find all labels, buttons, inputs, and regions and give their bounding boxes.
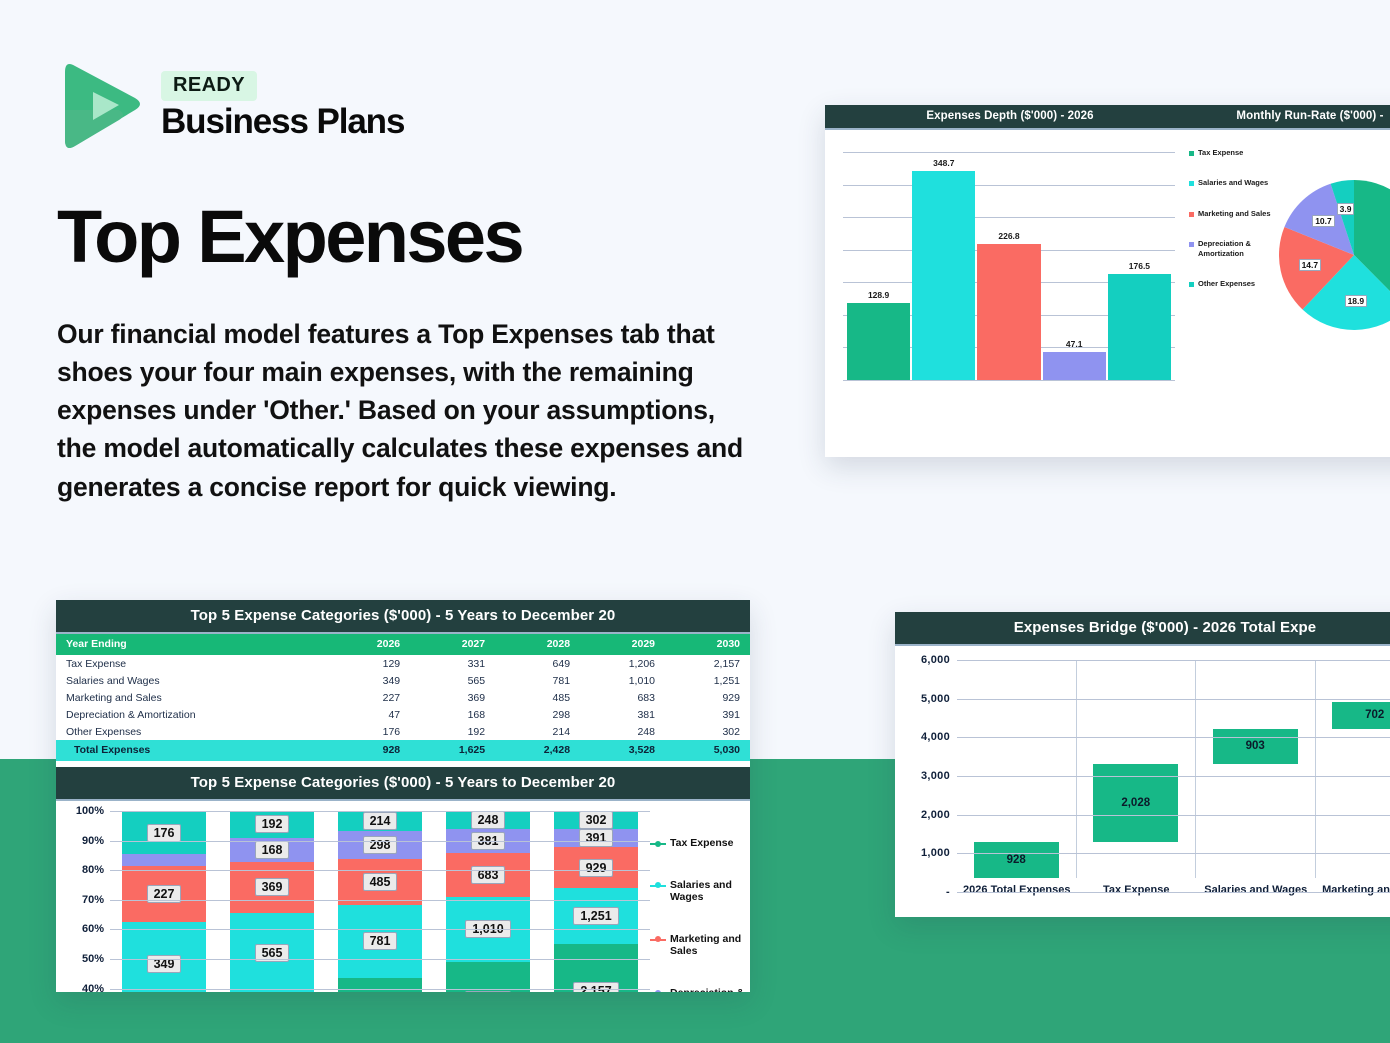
x-axis-label: 2026 Total Expenses <box>957 878 1077 904</box>
legend-swatch <box>1189 282 1194 287</box>
table-cell: 929 <box>665 689 750 706</box>
waterfall-value-label: 928 <box>1007 854 1026 866</box>
legend-label: Salaries and Wages <box>1198 178 1268 187</box>
top5-expense-table: Year Ending20262027202820292030 Tax Expe… <box>56 634 750 761</box>
segment-value-label: 2,157 <box>573 982 618 992</box>
waterfall-column: 928 <box>957 660 1077 878</box>
bar-rect <box>912 171 975 380</box>
stacked-legend: Tax ExpenseSalaries and WagesMarketing a… <box>650 811 746 992</box>
segment-value-label: 168 <box>255 841 290 859</box>
top5-chart-title: Top 5 Expense Categories ($'000) - 5 Yea… <box>56 767 750 801</box>
waterfall-column: 2,028 <box>1077 660 1197 878</box>
bar-rect <box>1108 274 1171 380</box>
waterfall-bar: 903 <box>1213 729 1298 764</box>
table-cell: 683 <box>580 689 665 706</box>
table-header-row: Year Ending20262027202820292030 <box>56 634 750 655</box>
table-cell: 214 <box>495 723 580 740</box>
y-axis-tick: 100% <box>76 805 104 817</box>
stack-segment: 248 <box>446 811 530 829</box>
table-cell: 192 <box>410 723 495 740</box>
x-axis-label: Salaries and Wages <box>1196 878 1316 904</box>
stack-segment: 302 <box>554 811 638 829</box>
row-label: Marketing and Sales <box>56 689 331 706</box>
pie-value-label: 10.7 <box>1312 215 1335 227</box>
stack-segment: 649 <box>338 978 422 992</box>
segment-value-label: 683 <box>471 866 506 884</box>
stack-segment: 391 <box>554 829 638 847</box>
x-axis-label: Marketing and Sales <box>1316 878 1390 904</box>
stack-segment: 298 <box>338 831 422 859</box>
stack-segment: 683 <box>446 853 530 897</box>
table-cell: 781 <box>495 672 580 689</box>
y-axis-tick: 4,000 <box>921 731 950 743</box>
table-cell: 298 <box>495 706 580 723</box>
legend-label: Marketing and Sales <box>670 933 741 958</box>
table-cell: 2,157 <box>665 655 750 672</box>
stack-segment: 1,206 <box>446 962 530 992</box>
legend-label: Other Expenses <box>1198 279 1255 288</box>
table-row: Depreciation & Amortization4716829838139… <box>56 706 750 723</box>
expenses-bridge-card: Expenses Bridge ($'000) - 2026 Total Exp… <box>895 612 1390 917</box>
table-cell: 391 <box>665 706 750 723</box>
expenses-bridge-waterfall-chart: 6,0005,0004,0003,0002,0001,000- 9282,028… <box>895 646 1390 904</box>
stack-segment: 214 <box>338 811 422 831</box>
legend-label: Depreciation & Amortization <box>1198 239 1277 258</box>
stack-segment: 485 <box>338 859 422 905</box>
stacked-bar-column: 3023919291,2512,157 <box>554 811 638 992</box>
stacked-y-axis: 100%90%80%70%60%50%40%30% <box>62 811 110 992</box>
segment-value-label: 298 <box>363 836 398 854</box>
y-axis-tick: 5,000 <box>921 693 950 705</box>
legend-swatch <box>1189 181 1194 186</box>
bar-value-label: 348.7 <box>933 158 954 168</box>
chart-title-row: Expenses Depth ($'000) - 2026 Monthly Ru… <box>825 105 1390 130</box>
table-row: Tax Expense1293316491,2062,157 <box>56 655 750 672</box>
stacked-legend-item: Tax Expense <box>650 837 746 850</box>
bar-rect <box>847 303 910 380</box>
table-cell: 227 <box>331 689 411 706</box>
bar-rect <box>1043 352 1106 380</box>
total-cell: 2,428 <box>495 740 580 761</box>
bar-value-label: 128.9 <box>868 290 889 300</box>
legend-item: Salaries and Wages <box>1189 178 1277 187</box>
legend-item: Other Expenses <box>1189 279 1277 288</box>
table-column-header: 2029 <box>580 634 665 655</box>
page-title: Top Expenses <box>57 200 522 274</box>
table-column-header: 2027 <box>410 634 495 655</box>
legend-marker <box>650 989 666 992</box>
monthly-run-rate-pie-chart: Tax ExpenseSalaries and WagesMarketing a… <box>1183 130 1390 436</box>
segment-value-label: 176 <box>147 824 182 842</box>
table-row: Other Expenses176192214248302 <box>56 723 750 740</box>
segment-value-label: 248 <box>471 811 506 829</box>
table-cell: 1,206 <box>580 655 665 672</box>
top5-expense-categories-card: Top 5 Expense Categories ($'000) - 5 Yea… <box>56 600 750 992</box>
table-column-header: Year Ending <box>56 634 331 655</box>
stack-segment: 1,251 <box>554 888 638 943</box>
stacked-legend-item: Salaries and Wages <box>650 879 746 904</box>
stacked-legend-item: Marketing and Sales <box>650 933 746 958</box>
y-axis-tick: 6,000 <box>921 654 950 666</box>
pie-value-label: 3.9 <box>1337 203 1355 215</box>
bar-column: 348.7 <box>912 152 975 380</box>
y-axis-tick: 80% <box>82 864 104 876</box>
slide-root: READY Business Plans Top Expenses Our fi… <box>0 0 1390 1043</box>
table-cell: 331 <box>410 655 495 672</box>
brand-name: Business Plans <box>161 104 404 141</box>
table-column-header: 2028 <box>495 634 580 655</box>
total-label: Total Expenses <box>56 740 331 761</box>
legend-marker <box>650 839 666 848</box>
table-cell: 168 <box>410 706 495 723</box>
top5-stacked-chart: 100%90%80%70%60%50%40%30% 17647227349129… <box>56 801 750 992</box>
table-cell: 129 <box>331 655 411 672</box>
total-cell: 1,625 <box>410 740 495 761</box>
pie-graphic: 18.914.710.73.9 <box>1279 180 1390 330</box>
table-cell: 369 <box>410 689 495 706</box>
table-cell: 47 <box>331 706 411 723</box>
stacked-bar-column: 2483816831,0101,206 <box>446 811 530 992</box>
waterfall-value-label: 903 <box>1246 740 1265 752</box>
legend-swatch <box>1189 212 1194 217</box>
legend-marker <box>650 881 666 890</box>
legend-swatch <box>1189 151 1194 156</box>
legend-item: Marketing and Sales <box>1189 209 1277 218</box>
bar-value-label: 176.5 <box>1129 261 1150 271</box>
stack-segment: 192 <box>230 811 314 838</box>
y-axis-tick: 50% <box>82 953 104 965</box>
stacked-bar-column: 214298485781649 <box>338 811 422 992</box>
y-axis-tick: 70% <box>82 894 104 906</box>
legend-label: Depreciation & Amortization <box>670 987 744 992</box>
segment-value-label: 929 <box>579 859 614 877</box>
table-cell: 349 <box>331 672 411 689</box>
legend-label: Tax Expense <box>1198 148 1243 157</box>
bar-column: 47.1 <box>1043 152 1106 380</box>
table-cell: 1,010 <box>580 672 665 689</box>
table-cell: 485 <box>495 689 580 706</box>
segment-value-label: 302 <box>579 811 614 829</box>
bar-column: 176.5 <box>1108 152 1171 380</box>
expenses-depth-card: Expenses Depth ($'000) - 2026 Monthly Ru… <box>825 105 1390 457</box>
waterfall-column: 903 <box>1196 660 1316 878</box>
pie-legend: Tax ExpenseSalaries and WagesMarketing a… <box>1189 148 1277 309</box>
table-row: Marketing and Sales227369485683929 <box>56 689 750 706</box>
waterfall-bar: 702 <box>1332 702 1390 729</box>
top5-table-title: Top 5 Expense Categories ($'000) - 5 Yea… <box>56 600 750 634</box>
row-label: Salaries and Wages <box>56 672 331 689</box>
legend-label: Tax Expense <box>670 837 733 850</box>
row-label: Other Expenses <box>56 723 331 740</box>
bar-value-label: 226.8 <box>998 231 1019 241</box>
segment-value-label: 214 <box>363 812 398 830</box>
segment-value-label: 369 <box>255 878 290 896</box>
waterfall-value-label: 2,028 <box>1121 797 1150 809</box>
waterfall-x-axis: 2026 Total ExpensesTax ExpenseSalaries a… <box>901 878 1390 904</box>
stack-segment: 781 <box>338 905 422 978</box>
waterfall-bar: 928 <box>974 842 1059 878</box>
stack-segment: 929 <box>554 847 638 888</box>
total-cell: 928 <box>331 740 411 761</box>
table-cell: 176 <box>331 723 411 740</box>
legend-swatch <box>1189 242 1194 247</box>
play-arrow-logo-icon <box>57 58 143 154</box>
y-axis-tick: 1,000 <box>921 847 950 859</box>
legend-label: Salaries and Wages <box>670 879 732 904</box>
waterfall-value-label: 702 <box>1365 709 1384 721</box>
pie-value-label: 14.7 <box>1299 259 1322 271</box>
bar-rect <box>977 244 1040 380</box>
table-column-header: 2026 <box>331 634 411 655</box>
table-cell: 565 <box>410 672 495 689</box>
table-cell: 302 <box>665 723 750 740</box>
bar-column: 226.8 <box>977 152 1040 380</box>
segment-value-label: 781 <box>363 932 398 950</box>
row-label: Tax Expense <box>56 655 331 672</box>
table-column-header: 2030 <box>665 634 750 655</box>
table-total-row: Total Expenses9281,6252,4283,5285,030 <box>56 740 750 761</box>
segment-value-label: 391 <box>579 829 614 847</box>
expenses-depth-bar-chart: 128.9348.7226.847.1176.5 <box>825 130 1183 436</box>
expenses-depth-title: Expenses Depth ($'000) - 2026 <box>825 105 1195 130</box>
y-axis-tick: 60% <box>82 923 104 935</box>
y-axis-tick: 2,000 <box>921 809 950 821</box>
legend-item: Tax Expense <box>1189 148 1277 157</box>
segment-value-label: 485 <box>363 873 398 891</box>
brand-logo: READY Business Plans <box>57 58 404 154</box>
y-axis-tick: 40% <box>82 983 104 992</box>
table-cell: 381 <box>580 706 665 723</box>
stack-segment: 349 <box>122 922 206 992</box>
segment-value-label: 1,251 <box>573 907 618 925</box>
stacked-legend-item: Depreciation & Amortization <box>650 987 746 992</box>
legend-marker <box>650 935 666 944</box>
bar-column: 128.9 <box>847 152 910 380</box>
stacked-bar-column: 17647227349129 <box>122 811 206 992</box>
stack-segment: 176 <box>122 811 206 854</box>
stack-segment: 565 <box>230 913 314 992</box>
y-axis-tick: 3,000 <box>921 770 950 782</box>
total-cell: 3,528 <box>580 740 665 761</box>
stacked-bar-column: 192168369565331 <box>230 811 314 992</box>
legend-label: Marketing and Sales <box>1198 209 1271 218</box>
x-axis-label: Tax Expense <box>1077 878 1197 904</box>
row-label: Depreciation & Amortization <box>56 706 331 723</box>
table-cell: 649 <box>495 655 580 672</box>
stack-segment: 227 <box>122 866 206 922</box>
total-cell: 5,030 <box>665 740 750 761</box>
bar-value-label: 47.1 <box>1066 339 1083 349</box>
expenses-bridge-title: Expenses Bridge ($'000) - 2026 Total Exp… <box>895 612 1390 646</box>
waterfall-y-axis: 6,0005,0004,0003,0002,0001,000- <box>901 660 957 878</box>
table-row: Salaries and Wages3495657811,0101,251 <box>56 672 750 689</box>
table-cell: 248 <box>580 723 665 740</box>
monthly-run-rate-title: Monthly Run-Rate ($'000) - <box>1195 105 1390 130</box>
table-cell: 1,251 <box>665 672 750 689</box>
legend-item: Depreciation & Amortization <box>1189 239 1277 258</box>
page-description: Our financial model features a Top Expen… <box>57 315 757 506</box>
ready-badge: READY <box>161 71 257 101</box>
y-axis-tick: - <box>946 886 950 898</box>
pie-value-label: 18.9 <box>1345 295 1368 307</box>
segment-value-label: 192 <box>255 815 290 833</box>
y-axis-tick: 90% <box>82 835 104 847</box>
stack-segment: 47 <box>122 854 206 866</box>
stack-segment: 2,157 <box>554 944 638 993</box>
segment-value-label: 1,206 <box>465 991 510 992</box>
waterfall-column: 702 <box>1316 660 1390 878</box>
